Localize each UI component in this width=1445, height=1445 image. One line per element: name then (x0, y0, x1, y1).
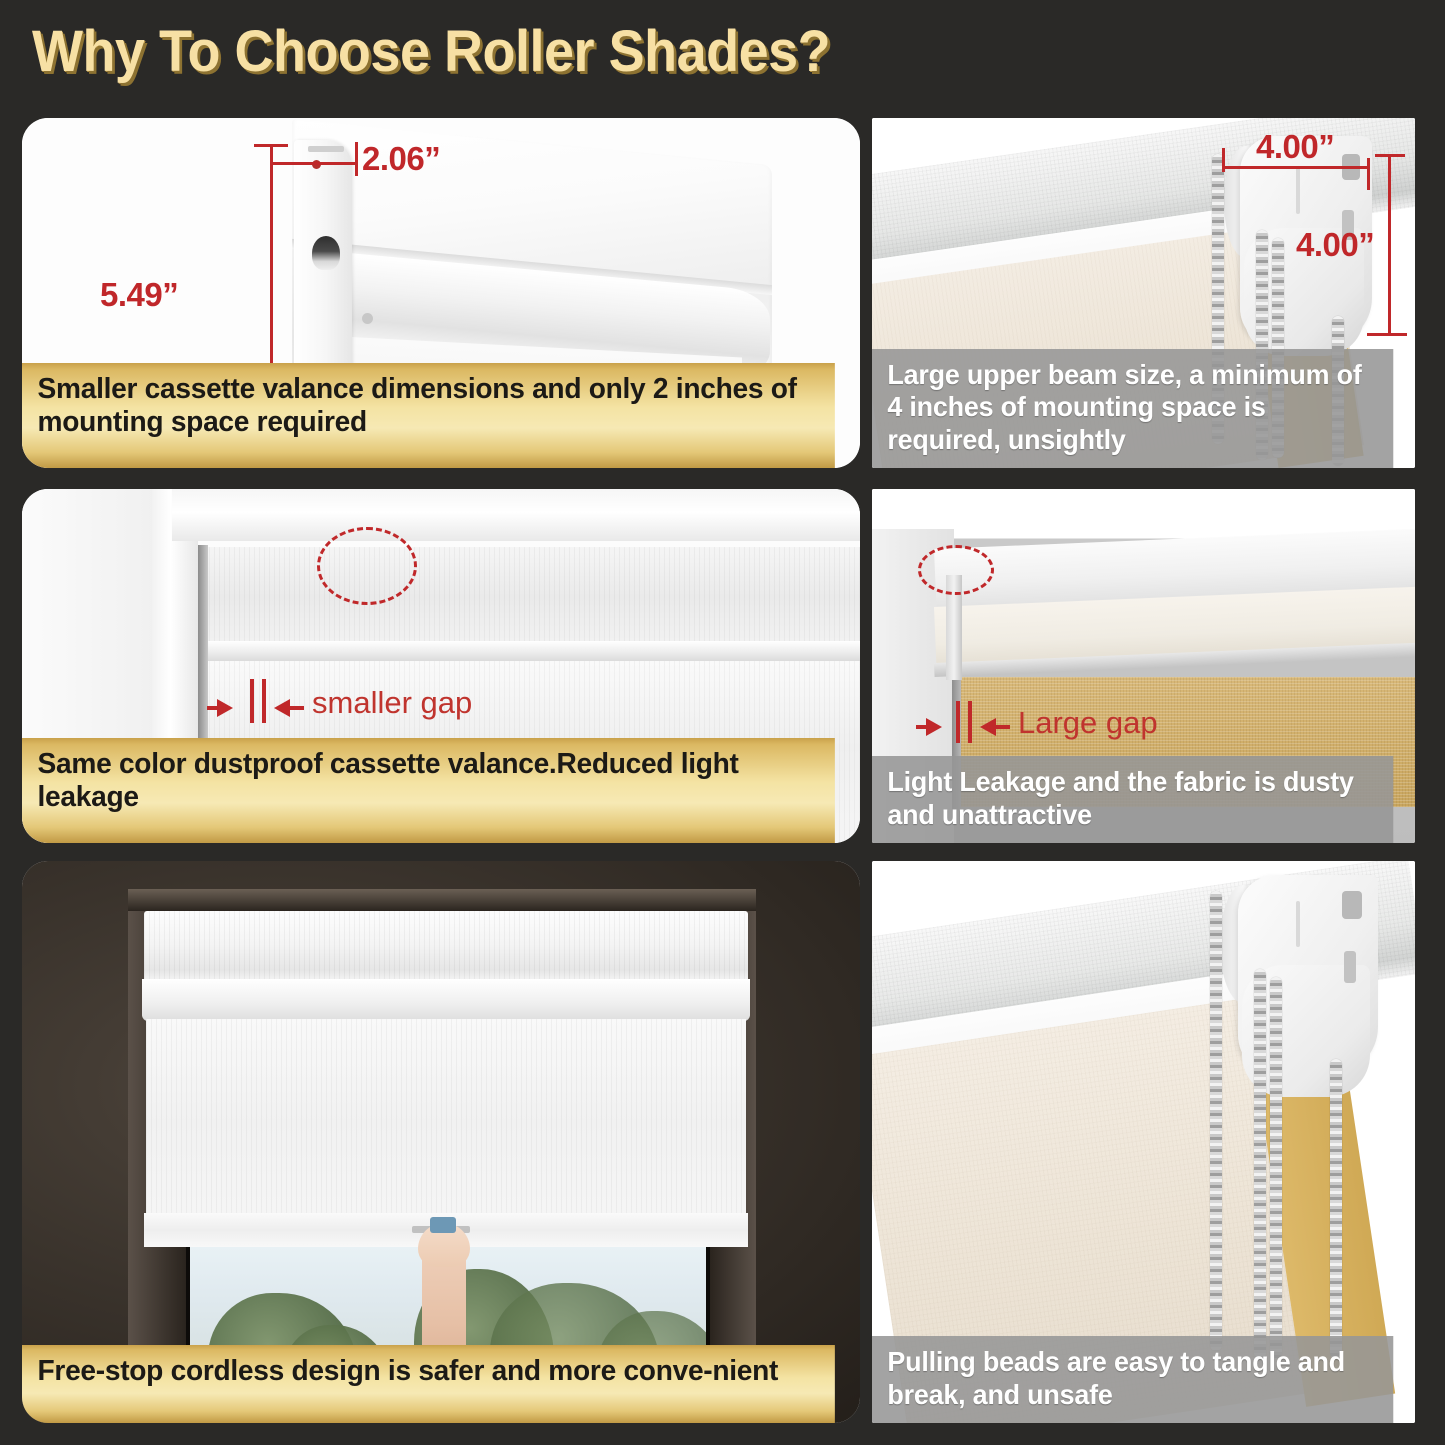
bead-chain[interactable] (1330, 1059, 1342, 1359)
panel-pulling-beads: Pulling beads are easy to tangle and bre… (872, 861, 1415, 1423)
cordless-window-scene-image (22, 861, 860, 1423)
panel-caption: Light Leakage and the fabric is dusty an… (872, 756, 1393, 843)
highlight-ellipse-icon (317, 527, 417, 605)
panel-caption: Free-stop cordless design is safer and m… (22, 1345, 835, 1423)
annotation-height-549: 5.49” (100, 276, 178, 314)
panel-cordless-design: Free-stop cordless design is safer and m… (22, 861, 860, 1423)
panel-small-cassette: 2.06” 5.49” Smaller cassette valance dim… (22, 118, 860, 468)
panel-dustproof-valance: smaller gap Same color dustproof cassett… (22, 489, 860, 843)
annotation-width-206: 2.06” (362, 140, 440, 178)
panel-caption: Same color dustproof cassette valance.Re… (22, 738, 835, 843)
panel-caption: Large upper beam size, a minimum of 4 in… (872, 349, 1393, 468)
highlight-ellipse-icon (918, 545, 994, 595)
annotation-beam-width: 4.00” (1256, 128, 1334, 166)
bead-chain[interactable] (1270, 977, 1282, 1359)
page-title: Why To Choose Roller Shades? (32, 18, 830, 85)
bead-chain[interactable] (1254, 969, 1266, 1359)
annotation-beam-height: 4.00” (1296, 226, 1374, 264)
panel-light-leakage: Large gap Light Leakage and the fabric i… (872, 489, 1415, 843)
panel-caption: Pulling beads are easy to tangle and bre… (872, 1336, 1393, 1423)
panel-caption: Smaller cassette valance dimensions and … (22, 363, 835, 468)
panel-large-beam: 4.00” 4.00” Large upper beam size, a min… (872, 118, 1415, 468)
bead-chain[interactable] (1210, 891, 1222, 1351)
annotation-smaller-gap: smaller gap (312, 685, 472, 721)
annotation-large-gap: Large gap (1018, 705, 1158, 741)
